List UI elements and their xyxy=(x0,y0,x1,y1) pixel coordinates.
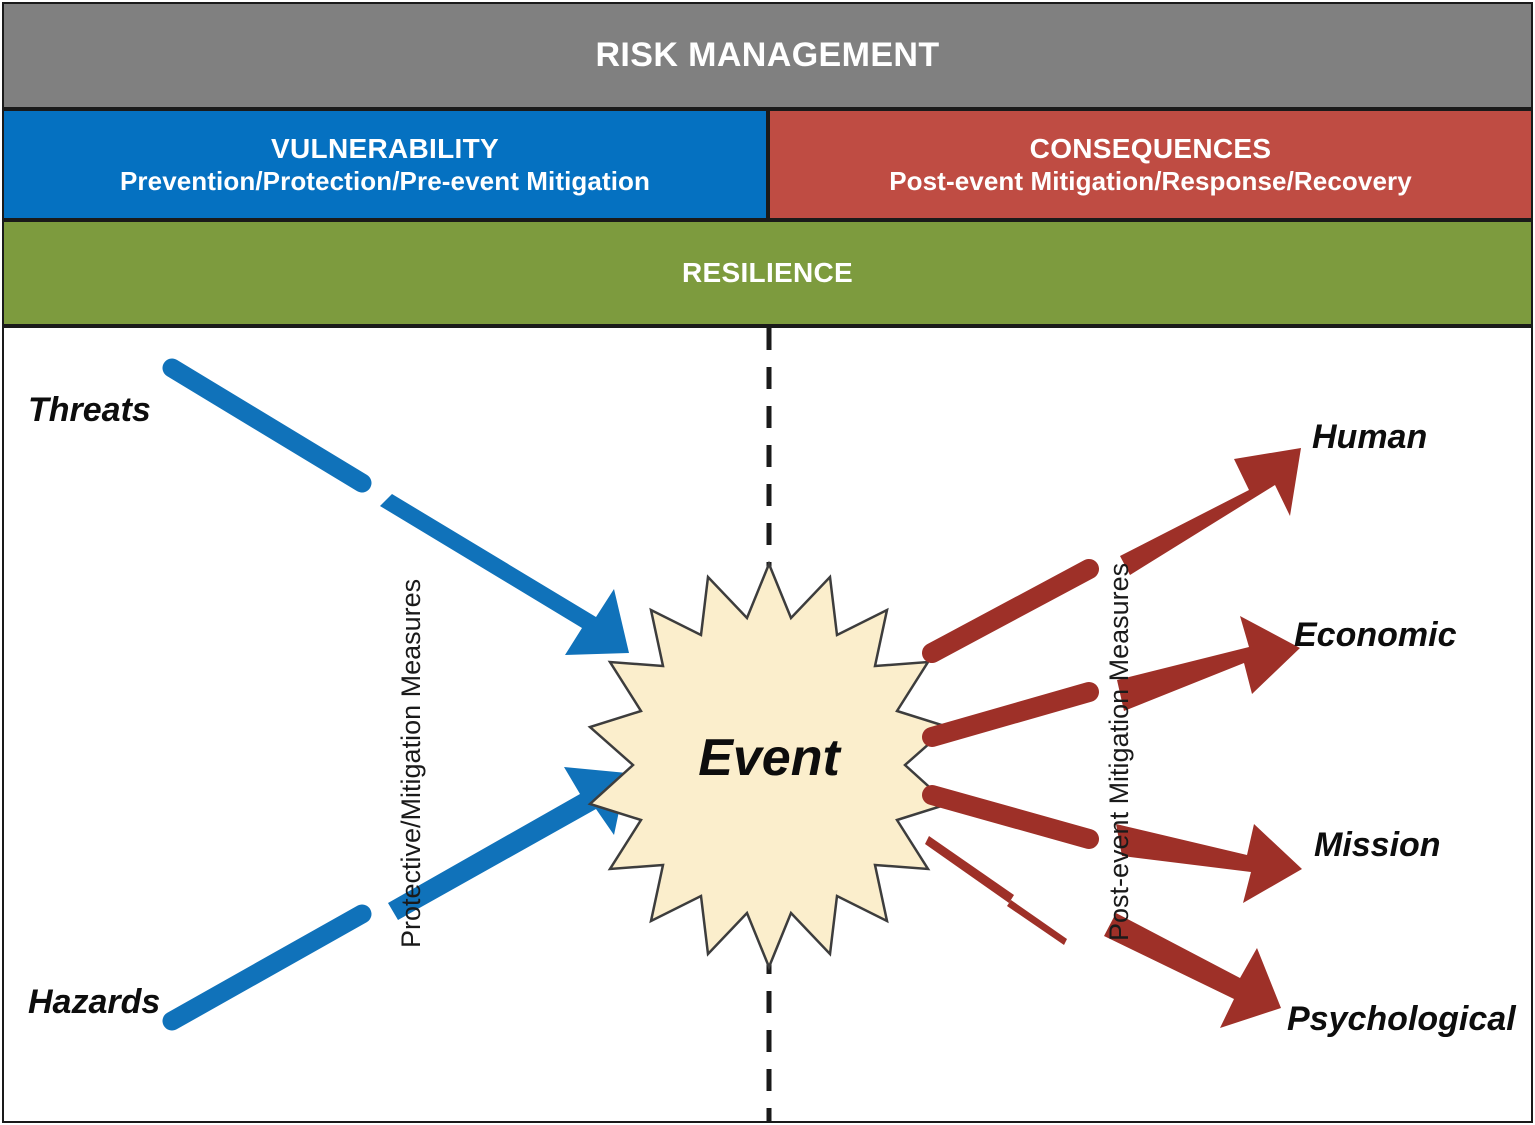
band-vulnerability-sublabel: Prevention/Protection/Pre-event Mitigati… xyxy=(120,167,650,196)
label-threats: Threats xyxy=(28,391,151,430)
band-risk-management: RISK MANAGEMENT xyxy=(2,2,1533,109)
band-resilience-label: RESILIENCE xyxy=(682,257,853,288)
band-risk-management-label: RISK MANAGEMENT xyxy=(595,36,939,74)
band-consequences: CONSEQUENCES Post-event Mitigation/Respo… xyxy=(768,109,1533,220)
band-consequences-label: CONSEQUENCES xyxy=(1030,133,1272,164)
label-mission: Mission xyxy=(1314,826,1441,865)
diagram-root: RISK MANAGEMENT VULNERABILITY Prevention… xyxy=(0,0,1535,1125)
label-human: Human xyxy=(1312,418,1427,457)
label-hazards: Hazards xyxy=(28,983,160,1022)
label-event: Event xyxy=(590,728,948,788)
band-vulnerability-label: VULNERABILITY xyxy=(271,133,499,164)
diagram-canvas: Threats Hazards Human Economic Mission P… xyxy=(2,326,1533,1123)
band-resilience: RESILIENCE xyxy=(2,220,1533,326)
label-post-event-mitigation-measures: Post-event Mitigation Measures xyxy=(1104,563,1135,941)
label-economic: Economic xyxy=(1294,616,1456,655)
band-vulnerability: VULNERABILITY Prevention/Protection/Pre-… xyxy=(2,109,768,220)
label-protective-mitigation-measures: Protective/Mitigation Measures xyxy=(396,579,427,948)
band-consequences-sublabel: Post-event Mitigation/Response/Recovery xyxy=(889,167,1412,196)
label-psychological: Psychological xyxy=(1287,1000,1516,1039)
